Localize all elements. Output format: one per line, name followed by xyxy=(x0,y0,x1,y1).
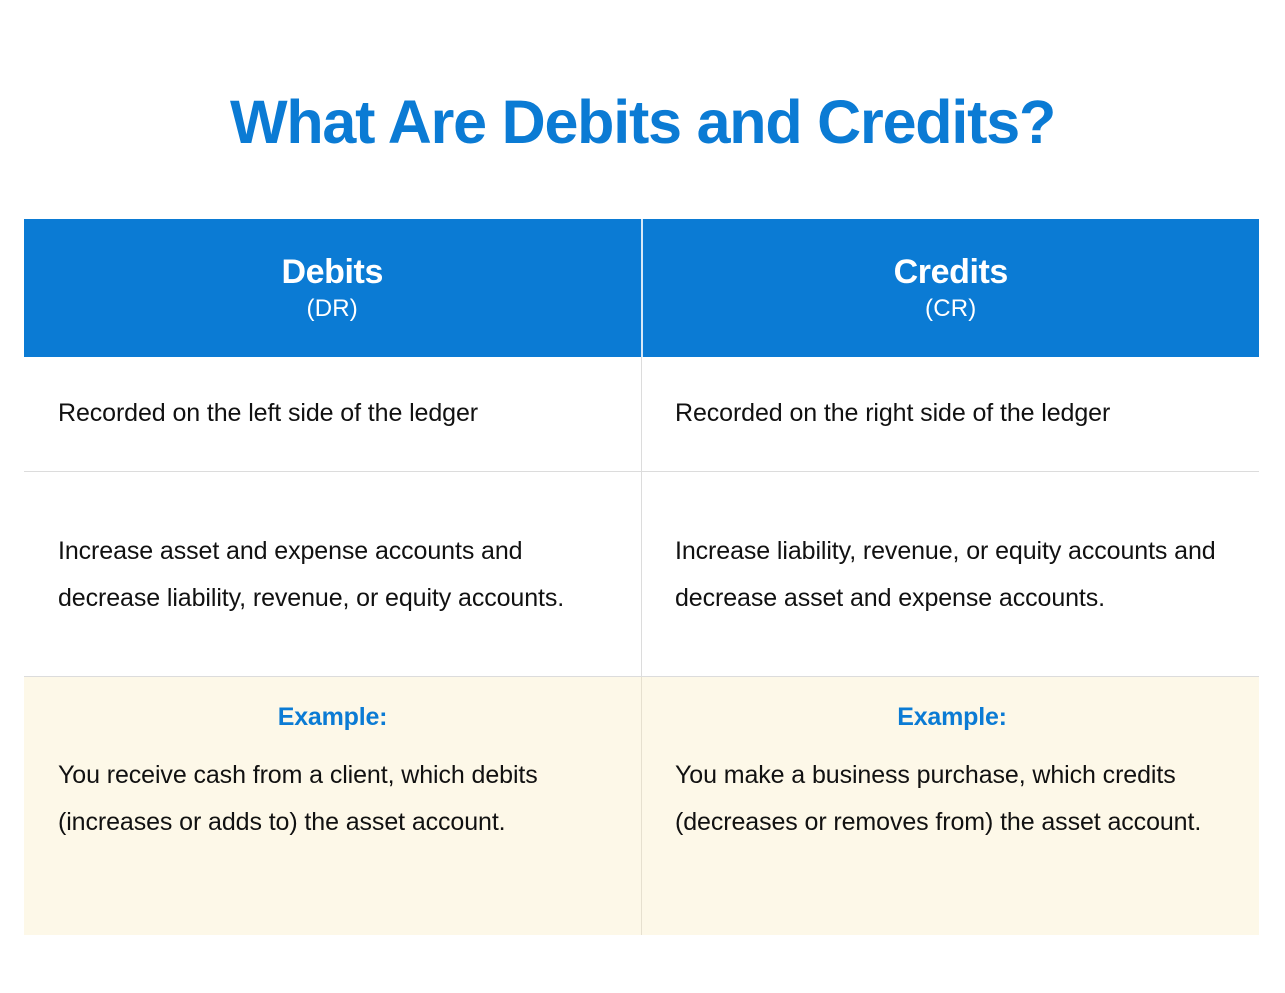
cell-text: Increase asset and expense accounts and … xyxy=(58,528,607,622)
table-row: Increase asset and expense accounts and … xyxy=(24,471,1259,676)
cell-text: You receive cash from a client, which de… xyxy=(58,752,607,846)
example-label: Example: xyxy=(675,677,1229,752)
cell-debits-example: Example: You receive cash from a client,… xyxy=(24,676,642,935)
cell-debits-effect: Increase asset and expense accounts and … xyxy=(24,471,642,676)
example-label: Example: xyxy=(58,677,607,752)
column-header-credits: Credits (CR) xyxy=(642,219,1260,357)
comparison-infographic: What Are Debits and Credits? Debits (DR)… xyxy=(0,0,1285,993)
table-header-row: Debits (DR) Credits (CR) xyxy=(24,219,1259,357)
cell-credits-example: Example: You make a business purchase, w… xyxy=(642,676,1260,935)
column-header-credits-abbreviation: (CR) xyxy=(655,293,1248,324)
column-header-debits-title: Debits xyxy=(36,252,629,293)
debits-credits-comparison-table: Debits (DR) Credits (CR) Recorded on the… xyxy=(24,219,1259,935)
column-header-debits: Debits (DR) xyxy=(24,219,642,357)
cell-credits-location: Recorded on the right side of the ledger xyxy=(642,357,1260,471)
table-row: Recorded on the left side of the ledger … xyxy=(24,357,1259,471)
cell-text: You make a business purchase, which cred… xyxy=(675,752,1229,846)
cell-text: Increase liability, revenue, or equity a… xyxy=(675,528,1229,622)
cell-credits-effect: Increase liability, revenue, or equity a… xyxy=(642,471,1260,676)
page-title: What Are Debits and Credits? xyxy=(0,85,1285,159)
cell-text: Recorded on the left side of the ledger xyxy=(58,390,607,437)
cell-text: Recorded on the right side of the ledger xyxy=(675,390,1229,437)
cell-debits-location: Recorded on the left side of the ledger xyxy=(24,357,642,471)
table-row-example: Example: You receive cash from a client,… xyxy=(24,676,1259,935)
column-header-debits-abbreviation: (DR) xyxy=(36,293,629,324)
column-header-credits-title: Credits xyxy=(655,252,1248,293)
